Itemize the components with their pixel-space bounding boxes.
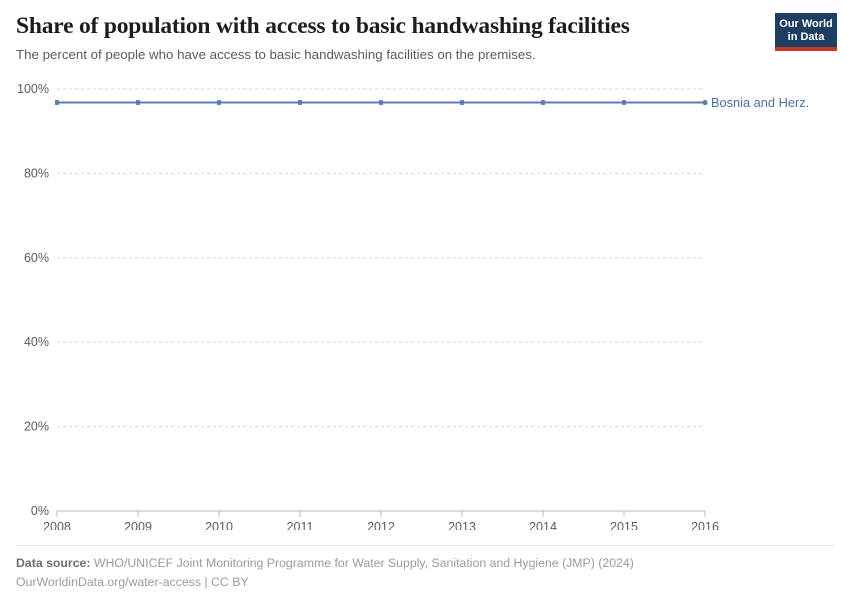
line-chart-plot: 0%20%40%60%80%100% 200820092010201120122…	[0, 80, 850, 530]
footer-link-line: OurWorldinData.org/water-access | CC BY	[16, 573, 836, 592]
data-point-marker[interactable]	[298, 100, 302, 105]
logo-line-2: in Data	[779, 31, 833, 44]
x-axis-tick-label: 2011	[287, 520, 314, 530]
x-axis-tick-label: 2012	[367, 520, 395, 530]
license-text: CC BY	[211, 575, 249, 589]
chart-subtitle: The percent of people who have access to…	[16, 46, 756, 64]
gridlines-group	[57, 89, 705, 427]
y-axis-tick-label: 60%	[24, 251, 49, 265]
data-source-line: Data source: WHO/UNICEF Joint Monitoring…	[16, 554, 836, 573]
x-axis-tick-label: 2009	[124, 520, 152, 530]
x-axis-tick-labels: 200820092010201120122013201420152016	[43, 520, 719, 530]
series-group	[55, 100, 708, 105]
data-point-marker[interactable]	[379, 100, 383, 105]
x-axis-tick-label: 2008	[43, 520, 71, 530]
logo-line-1: Our World	[779, 18, 833, 31]
chart-svg: 0%20%40%60%80%100% 200820092010201120122…	[0, 80, 850, 530]
data-point-marker[interactable]	[55, 100, 59, 105]
data-point-marker[interactable]	[460, 100, 464, 105]
our-world-in-data-logo[interactable]: Our World in Data	[775, 13, 837, 51]
page-title: Share of population with access to basic…	[16, 12, 756, 40]
data-point-marker[interactable]	[136, 100, 140, 105]
footer-separator: |	[204, 575, 207, 589]
y-axis-tick-label: 100%	[17, 82, 49, 96]
x-axis-tick-label: 2013	[448, 520, 476, 530]
y-axis-tick-labels: 0%20%40%60%80%100%	[17, 82, 49, 518]
y-axis-tick-label: 0%	[31, 504, 49, 518]
series-label-group: Bosnia and Herz.	[711, 95, 809, 110]
y-axis-tick-label: 40%	[24, 335, 49, 349]
data-point-marker[interactable]	[217, 100, 221, 105]
y-axis-tick-label: 80%	[24, 166, 49, 180]
series-label[interactable]: Bosnia and Herz.	[711, 95, 809, 110]
data-point-marker[interactable]	[622, 100, 626, 105]
y-axis-tick-label: 20%	[24, 420, 49, 434]
data-source-label: Data source:	[16, 556, 91, 570]
x-axis-tick-label: 2010	[205, 520, 233, 530]
data-source-text: WHO/UNICEF Joint Monitoring Programme fo…	[94, 556, 634, 570]
x-axis-tick-label: 2015	[610, 520, 638, 530]
footer-divider	[16, 545, 834, 546]
series-endpoint-marker[interactable]	[702, 100, 707, 105]
chart-page: Share of population with access to basic…	[0, 0, 850, 600]
chart-header: Share of population with access to basic…	[16, 12, 756, 64]
data-point-marker[interactable]	[541, 100, 545, 105]
x-axis-tick-label: 2014	[529, 520, 557, 530]
owid-url-link[interactable]: OurWorldinData.org/water-access	[16, 575, 201, 589]
x-axis-group	[57, 511, 705, 517]
chart-footer: Data source: WHO/UNICEF Joint Monitoring…	[16, 545, 836, 592]
x-axis-tick-label: 2016	[691, 520, 719, 530]
